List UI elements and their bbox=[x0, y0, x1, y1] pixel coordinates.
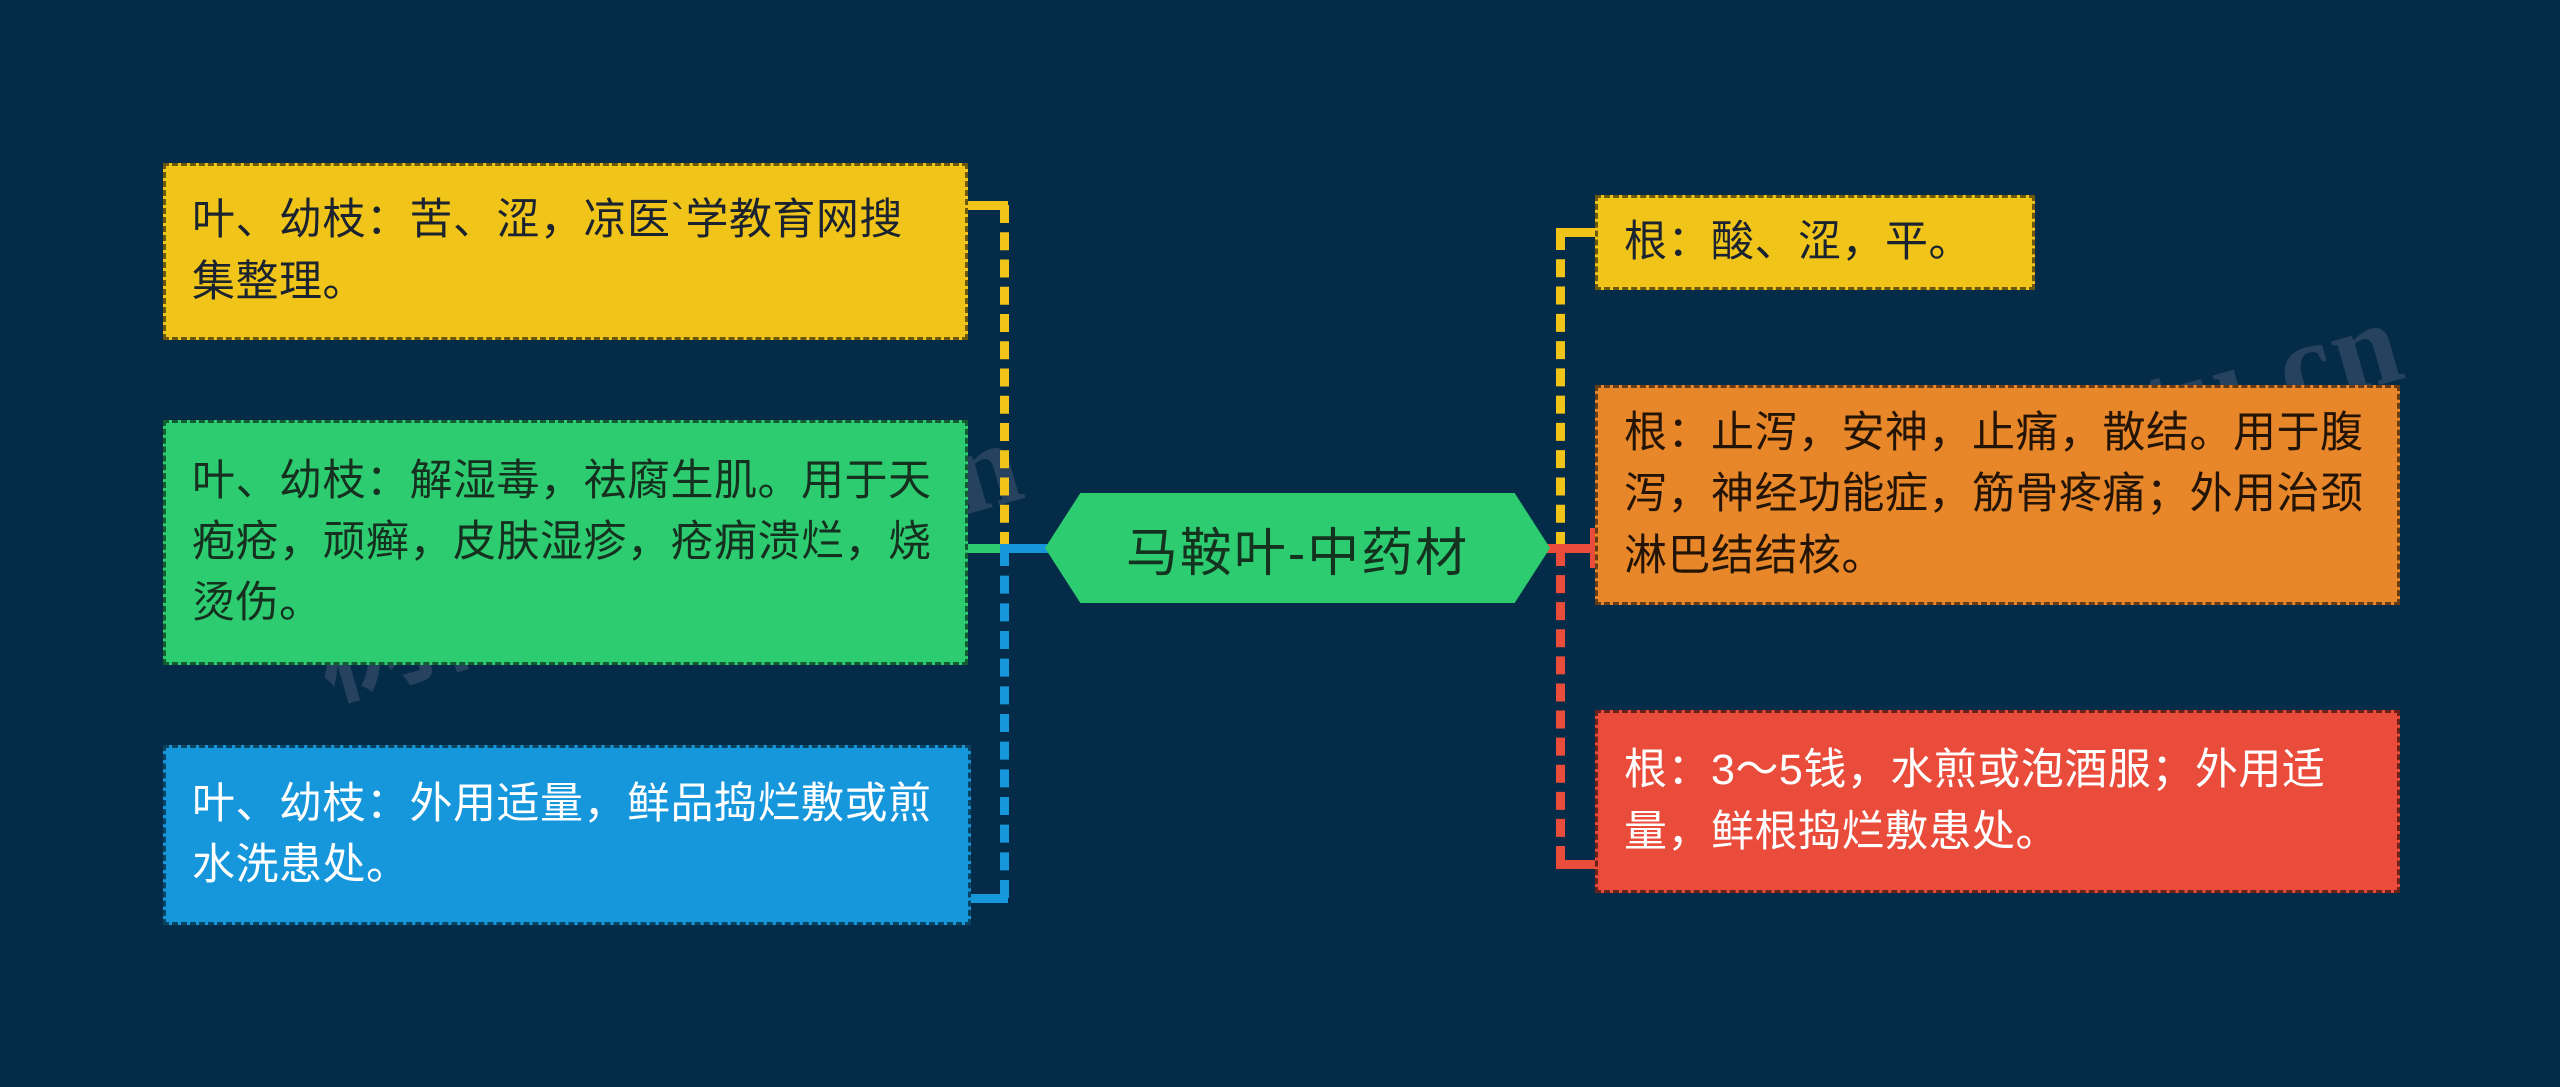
connector-right-spine-lower bbox=[1556, 548, 1565, 864]
node-leaf-usage-label: 叶、幼枝：外用适量，鲜品捣烂敷或煎水洗患处。 bbox=[192, 774, 942, 896]
node-root-usage-label: 根：3～5钱，水煎或泡酒服；外用适量，鲜根捣烂敷患处。 bbox=[1624, 740, 2371, 862]
node-center-topic-label: 马鞍叶-中药材 bbox=[1126, 511, 1469, 586]
node-center-topic[interactable]: 马鞍叶-中药材 bbox=[1045, 493, 1550, 603]
node-root-function-label: 根：止泻，安神，止痛，散结。用于腹泻，神经功能症，筋骨疼痛；外用治颈淋巴结结核。 bbox=[1624, 403, 2371, 586]
node-leaf-usage[interactable]: 叶、幼枝：外用适量，鲜品捣烂敷或煎水洗患处。 bbox=[163, 745, 971, 925]
node-root-nature[interactable]: 根：酸、涩，平。 bbox=[1595, 195, 2035, 290]
node-leaf-function[interactable]: 叶、幼枝：解湿毒，祛腐生肌。用于天疱疮，顽癣，皮肤湿疹，疮痈溃烂，烧烫伤。 bbox=[163, 420, 968, 665]
node-leaf-nature[interactable]: 叶、幼枝：苦、涩，凉医`学教育网搜集整理。 bbox=[163, 163, 968, 340]
connector-left-spine-upper bbox=[1000, 205, 1009, 550]
node-leaf-nature-label: 叶、幼枝：苦、涩，凉医`学教育网搜集整理。 bbox=[192, 190, 939, 312]
node-root-function[interactable]: 根：止泻，安神，止痛，散结。用于腹泻，神经功能症，筋骨疼痛；外用治颈淋巴结结核。 bbox=[1595, 385, 2400, 605]
node-leaf-function-label: 叶、幼枝：解湿毒，祛腐生肌。用于天疱疮，顽癣，皮肤湿疹，疮痈溃烂，烧烫伤。 bbox=[192, 451, 939, 634]
node-root-nature-label: 根：酸、涩，平。 bbox=[1624, 212, 2006, 273]
connector-left-spine-lower bbox=[1000, 548, 1009, 898]
node-root-usage[interactable]: 根：3～5钱，水煎或泡酒服；外用适量，鲜根捣烂敷患处。 bbox=[1595, 710, 2400, 893]
mindmap-canvas: 树图 shutu.cn 树图 shutu.cn 叶、幼枝：苦、涩，凉医`学教育网… bbox=[0, 0, 2560, 1087]
connector-right-spine-upper bbox=[1556, 232, 1565, 550]
